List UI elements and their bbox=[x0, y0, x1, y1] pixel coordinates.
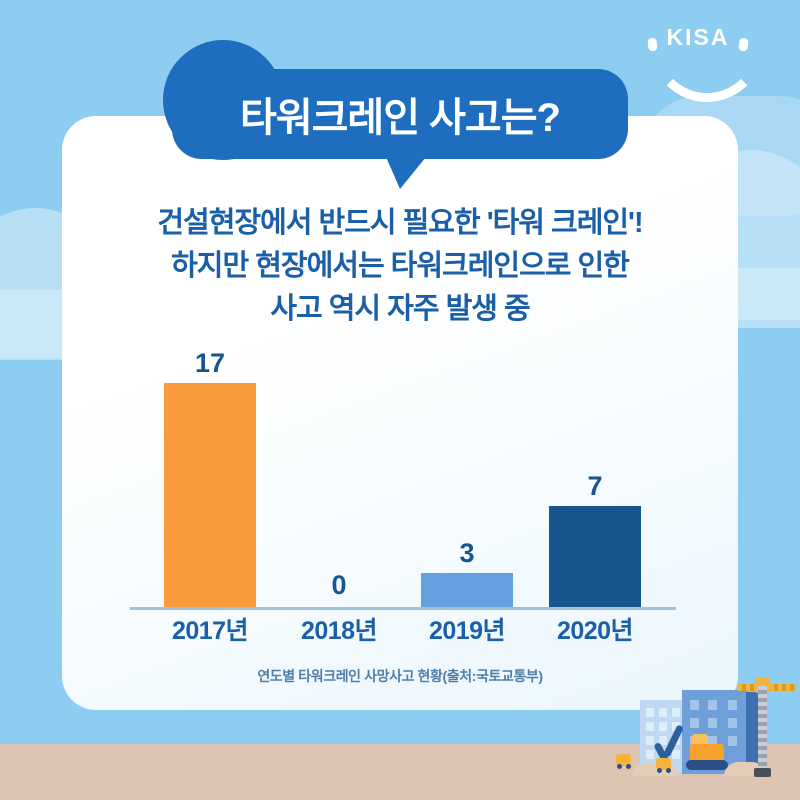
body-copy: 건설현장에서 반드시 필요한 '타워 크레인'! 하지만 현장에서는 타워크레인… bbox=[62, 202, 738, 331]
mini-vehicle-2-wheel bbox=[666, 768, 671, 773]
mini-vehicle-1-wheel bbox=[617, 764, 622, 769]
bar-value-2020: 7 bbox=[535, 471, 655, 502]
infographic-canvas: KISA 타워크레인 사고는? 건설현장에서 반드시 필요한 '타워 크레인'!… bbox=[0, 0, 800, 800]
body-copy-line-2: 하지만 현장에서는 타워크레인으로 인한 bbox=[62, 245, 738, 288]
body-copy-line-3: 사고 역시 자주 발생 중 bbox=[62, 288, 738, 331]
tower-crane-mast-icon bbox=[758, 686, 767, 774]
mini-vehicle-2-wheel bbox=[657, 768, 662, 773]
speech-bubble-tail-icon bbox=[386, 157, 426, 189]
tick-label-2017: 2017년 bbox=[140, 611, 280, 647]
dirt-mound-left bbox=[632, 764, 678, 776]
bar-chart: 17 2017년 0 2018년 3 2019년 7 2020년 bbox=[62, 340, 738, 650]
bar-value-2018: 0 bbox=[279, 570, 399, 601]
excavator-track-icon bbox=[686, 760, 728, 770]
bar-value-2017: 17 bbox=[150, 348, 270, 379]
bar-value-2019: 3 bbox=[407, 538, 527, 569]
kisa-logo: KISA bbox=[634, 22, 762, 84]
tower-crane-base-icon bbox=[754, 768, 771, 777]
body-copy-line-1: 건설현장에서 반드시 필요한 '타워 크레인'! bbox=[62, 202, 738, 245]
mini-vehicle-1-wheel bbox=[626, 764, 631, 769]
smile-arc-tip-left-icon bbox=[647, 38, 657, 52]
bar-2020 bbox=[549, 506, 641, 607]
page-title: 타워크레인 사고는? bbox=[240, 85, 560, 143]
tick-label-2018: 2018년 bbox=[269, 611, 409, 647]
construction-site-illustration bbox=[612, 672, 800, 800]
tick-label-2020: 2020년 bbox=[525, 611, 665, 647]
bar-2019 bbox=[421, 573, 513, 607]
tick-label-2019: 2019년 bbox=[397, 611, 537, 647]
bar-2017 bbox=[164, 383, 256, 607]
chart-axis-line bbox=[130, 607, 676, 610]
title-speech-bubble: 타워크레인 사고는? bbox=[172, 69, 628, 159]
